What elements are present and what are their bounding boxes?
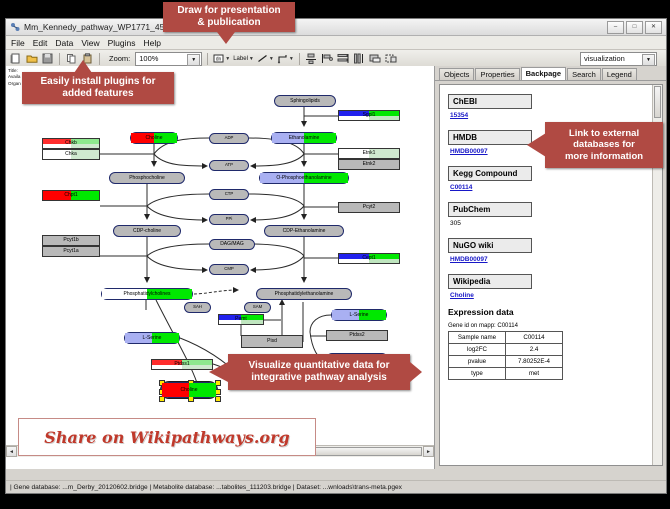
metabolite-cmp[interactable]: CMP — [209, 264, 249, 275]
node-label: Phosphatidylcholines — [124, 292, 171, 297]
pathvisio-icon — [10, 22, 20, 32]
share-banner: Share on Wikipathways.org — [18, 418, 316, 456]
metabolite-cdp-choline[interactable]: CDP-choline — [113, 225, 181, 237]
callout-plugins-text: Easily install plugins for added feature… — [40, 76, 155, 100]
node-label: Etnk2 — [363, 162, 376, 167]
node-label: ADP — [225, 136, 234, 140]
database-header-wikipedia: Wikipedia — [448, 274, 532, 289]
label-dropdown[interactable]: Label ▼ — [233, 56, 254, 62]
metabolite-choline[interactable]: Choline — [130, 132, 178, 144]
menu-item-data[interactable]: Data — [55, 38, 73, 48]
table-row: typemet — [449, 368, 563, 380]
label-dropdown-label: Label — [233, 56, 248, 62]
metabolite-l-serine[interactable]: L-Serine — [331, 309, 387, 321]
connector-dropdown[interactable]: ▼ — [277, 53, 294, 64]
tab-search[interactable]: Search — [567, 68, 601, 80]
node-label: SAH — [193, 305, 202, 309]
expression-table: Sample nameC00114log2FC2.4pvalue7.80252E… — [448, 331, 563, 380]
metabolite-phosphocholine[interactable]: Phosphocholine — [109, 172, 185, 184]
metabolite-adp[interactable]: ADP — [209, 133, 249, 144]
callout-visualize-text: Visualize quantitative data for integrat… — [249, 360, 390, 384]
node-label: L-Serine — [350, 313, 369, 318]
database-value-pubchem: 305 — [450, 220, 654, 227]
expression-data-heading: Expression data — [448, 307, 654, 317]
gene-ptdss1[interactable]: Ptdss1 — [151, 359, 213, 370]
callout-link-arrow-stem — [540, 139, 548, 151]
gene-chpt1[interactable]: Chpt1 — [42, 190, 100, 201]
zoom-label: Zoom: — [109, 54, 130, 63]
node-label: Pcyt1a — [63, 249, 78, 254]
chevron-down-icon[interactable]: ▼ — [187, 54, 200, 66]
node-label: Choline — [181, 388, 198, 393]
callout-draw-arrow — [217, 32, 235, 44]
node-label: CDP-Ethanolamine — [283, 229, 326, 234]
callout-visualize: Visualize quantitative data for integrat… — [228, 354, 410, 390]
node-label: Ptdss2 — [349, 333, 364, 338]
database-header-nugo-wiki: NuGO wiki — [448, 238, 532, 253]
table-row: log2FC2.4 — [449, 344, 563, 356]
node-label: CTP — [225, 192, 234, 196]
metabolite-ctp[interactable]: CTP — [209, 189, 249, 200]
callout-link-text: Link to external databases for more info… — [565, 128, 643, 162]
chevron-down-icon[interactable]: ▼ — [249, 56, 254, 62]
node-label: DAG/MAG — [220, 242, 244, 247]
gene-id-line: Gene id on mapp: C00114 — [448, 323, 654, 329]
menu-item-help[interactable]: Help — [144, 38, 161, 48]
status-bar-text: | Gene database: ...m_Derby_20120602.bri… — [10, 484, 402, 491]
minimize-button[interactable]: – — [607, 21, 624, 34]
scroll-left-icon[interactable]: ◄ — [6, 446, 17, 457]
node-label: L-Serine — [143, 336, 162, 341]
gene-ptdss2[interactable]: Ptdss2 — [326, 330, 388, 341]
scroll-thumb[interactable] — [654, 86, 661, 118]
align-left-icon[interactable] — [321, 52, 334, 65]
gene-pisd[interactable]: Pisd — [241, 335, 303, 348]
gene-sgpl1[interactable]: Sgpl1 — [338, 110, 400, 121]
align-center-icon[interactable] — [305, 52, 318, 65]
gene-pcyt2[interactable]: Pcyt2 — [338, 202, 400, 213]
visualization-value: visualization — [584, 54, 625, 63]
expr-value: 7.80252E-4 — [506, 356, 563, 368]
expr-key: log2FC — [449, 344, 506, 356]
database-header-chebi: ChEBI — [448, 94, 532, 109]
visualization-select[interactable]: visualization ▼ — [580, 52, 657, 66]
node-label: Phosphatidylethanolamine — [275, 292, 334, 297]
status-bar: | Gene database: ...m_Derby_20120602.bri… — [6, 480, 666, 493]
metabolite-cdp-ethanolamine[interactable]: CDP-Ethanolamine — [264, 225, 344, 237]
metabolite-sah[interactable]: SAH — [184, 302, 211, 313]
metabolite-ppi[interactable]: PPi — [209, 214, 249, 225]
expr-key: Sample name — [449, 332, 506, 344]
gene-pemt[interactable]: Pemt — [218, 314, 264, 325]
expr-value: met — [506, 368, 563, 380]
node-label: Cept1 — [362, 256, 375, 261]
node-label: Phosphocholine — [129, 176, 165, 181]
window-titlebar: Mm_Kennedy_pathway_WP1771_45176.gpml – □… — [6, 19, 666, 36]
callout-visualize-arrow — [209, 362, 228, 382]
metabolite-o-phosphoethanolamine[interactable]: O-Phosphoethanolamine — [259, 172, 349, 184]
node-label: Pcyt1b — [63, 238, 78, 243]
gene-chkb[interactable]: Chkb — [42, 138, 100, 149]
chevron-down-icon[interactable]: ▼ — [269, 56, 274, 62]
window-controls: – □ ✕ — [607, 21, 662, 34]
toolbar-separator — [99, 53, 100, 65]
node-label: Ethanolamine — [289, 136, 320, 141]
line-icon — [257, 53, 268, 64]
node-label: CDP-choline — [133, 229, 161, 234]
table-row: pvalue7.80252E-4 — [449, 356, 563, 368]
expr-value: 2.4 — [506, 344, 563, 356]
gene-cept1[interactable]: Cept1 — [338, 253, 400, 264]
save-icon[interactable] — [41, 52, 54, 65]
screenshot-root: Mm_Kennedy_pathway_WP1771_45176.gpml – □… — [0, 0, 670, 509]
distribute-horizontal-icon[interactable] — [353, 52, 366, 65]
tab-backpage[interactable]: Backpage — [521, 67, 566, 80]
database-link-kegg-compound[interactable]: C00114 — [450, 184, 654, 191]
node-label: O-Phosphoethanolamine — [276, 176, 331, 181]
menu-item-view[interactable]: View — [81, 38, 99, 48]
metabolite-phosphatidylethanolamine[interactable]: Phosphatidylethanolamine — [256, 288, 352, 300]
datanode-icon: dn — [213, 53, 224, 64]
table-row: Sample nameC00114 — [449, 332, 563, 344]
database-link-wikipedia[interactable]: Choline — [450, 292, 654, 299]
callout-visualize-arrow-right — [410, 362, 422, 382]
new-file-icon[interactable] — [9, 52, 22, 65]
callout-link: Link to external databases for more info… — [545, 122, 663, 168]
database-header-pubchem: PubChem — [448, 202, 532, 217]
metabolite-l-serine[interactable]: L-Serine — [124, 332, 180, 344]
connector-icon — [277, 53, 288, 64]
database-link-chebi[interactable]: 15354 — [450, 112, 654, 119]
metabolite-atp[interactable]: ATP — [209, 160, 249, 171]
metabolite-choline[interactable]: Choline — [161, 382, 217, 398]
gene-pcyt1a[interactable]: Pcyt1a — [42, 246, 100, 257]
chevron-down-icon[interactable]: ▼ — [289, 56, 294, 62]
node-label: SAM — [253, 305, 262, 309]
maximize-button[interactable]: □ — [626, 21, 643, 34]
zoom-value: 100% — [139, 54, 158, 63]
gene-chka[interactable]: Chka — [42, 149, 100, 160]
node-label: Pisd — [267, 339, 277, 344]
node-label: Chkb — [65, 141, 77, 146]
chevron-down-icon[interactable]: ▼ — [225, 56, 230, 62]
distribute-vertical-icon[interactable] — [337, 52, 350, 65]
callout-draw: Draw for presentation & publication — [163, 2, 295, 32]
node-label: Choline — [146, 136, 163, 141]
toolbar-separator — [299, 53, 300, 65]
node-label: Pcyt2 — [363, 205, 376, 210]
expr-key: pvalue — [449, 356, 506, 368]
group-icon[interactable] — [369, 52, 382, 65]
menu-item-file[interactable]: File — [11, 38, 25, 48]
menu-bar: File Edit Data View Plugins Help — [6, 36, 666, 50]
node-label: Sgpl1 — [363, 113, 376, 118]
gene-etnk1[interactable]: Etnk1 — [338, 148, 400, 159]
node-label: CMP — [224, 267, 234, 271]
gene-pcyt1b[interactable]: Pcyt1b — [42, 235, 100, 246]
expr-value: C00114 — [506, 332, 563, 344]
tab-objects[interactable]: Objects — [439, 68, 474, 80]
menu-item-edit[interactable]: Edit — [33, 38, 48, 48]
toolbar-separator — [207, 53, 208, 65]
share-banner-text: Share on Wikipathways.org — [44, 428, 289, 447]
gene-etnk2[interactable]: Etnk2 — [338, 159, 400, 170]
node-label: Chka — [65, 152, 77, 157]
zoom-select[interactable]: 100% ▼ — [135, 52, 202, 66]
expr-key: type — [449, 368, 506, 380]
toolbar-separator — [59, 53, 60, 65]
database-header-hmdb: HMDB — [448, 130, 532, 145]
node-label: Etnk1 — [363, 151, 376, 156]
node-label: Pemt — [235, 317, 247, 322]
menu-item-plugins[interactable]: Plugins — [108, 38, 136, 48]
metabolite-ethanolamine[interactable]: Ethanolamine — [271, 132, 337, 144]
database-header-kegg-compound: Kegg Compound — [448, 166, 532, 181]
metabolite-phosphatidylcholines[interactable]: Phosphatidylcholines — [101, 288, 193, 300]
open-folder-icon[interactable] — [25, 52, 38, 65]
pathway-canvas[interactable]: Title: Availa Organ — [6, 66, 435, 469]
scroll-right-icon[interactable]: ► — [423, 446, 434, 457]
database-link-nugo-wiki[interactable]: HMDB00097 — [450, 256, 654, 263]
datanode-dropdown[interactable]: dn ▼ — [213, 53, 230, 64]
metabolite-sphingolipids[interactable]: Sphingolipids — [274, 95, 336, 107]
tab-properties[interactable]: Properties — [475, 68, 519, 80]
tab-legend[interactable]: Legend — [602, 68, 637, 80]
callout-plugins-arrow — [74, 60, 92, 73]
metabolite-dag-mag[interactable]: DAG/MAG — [209, 239, 255, 250]
side-panel-tabs: Objects Properties Backpage Search Legen… — [435, 66, 666, 81]
node-label: Chpt1 — [64, 193, 77, 198]
node-label: ATP — [225, 163, 233, 167]
line-dropdown[interactable]: ▼ — [257, 53, 274, 64]
callout-draw-text: Draw for presentation & publication — [177, 5, 280, 29]
close-button[interactable]: ✕ — [645, 21, 662, 34]
node-label: Ptdss1 — [174, 362, 189, 367]
ungroup-icon[interactable] — [385, 52, 398, 65]
svg-text:dn: dn — [216, 56, 222, 62]
chevron-down-icon[interactable]: ▼ — [642, 54, 655, 66]
node-label: PPi — [226, 217, 233, 221]
metabolite-sam[interactable]: SAM — [244, 302, 271, 313]
node-label: Sphingolipids — [290, 99, 320, 104]
callout-plugins: Easily install plugins for added feature… — [22, 72, 174, 104]
